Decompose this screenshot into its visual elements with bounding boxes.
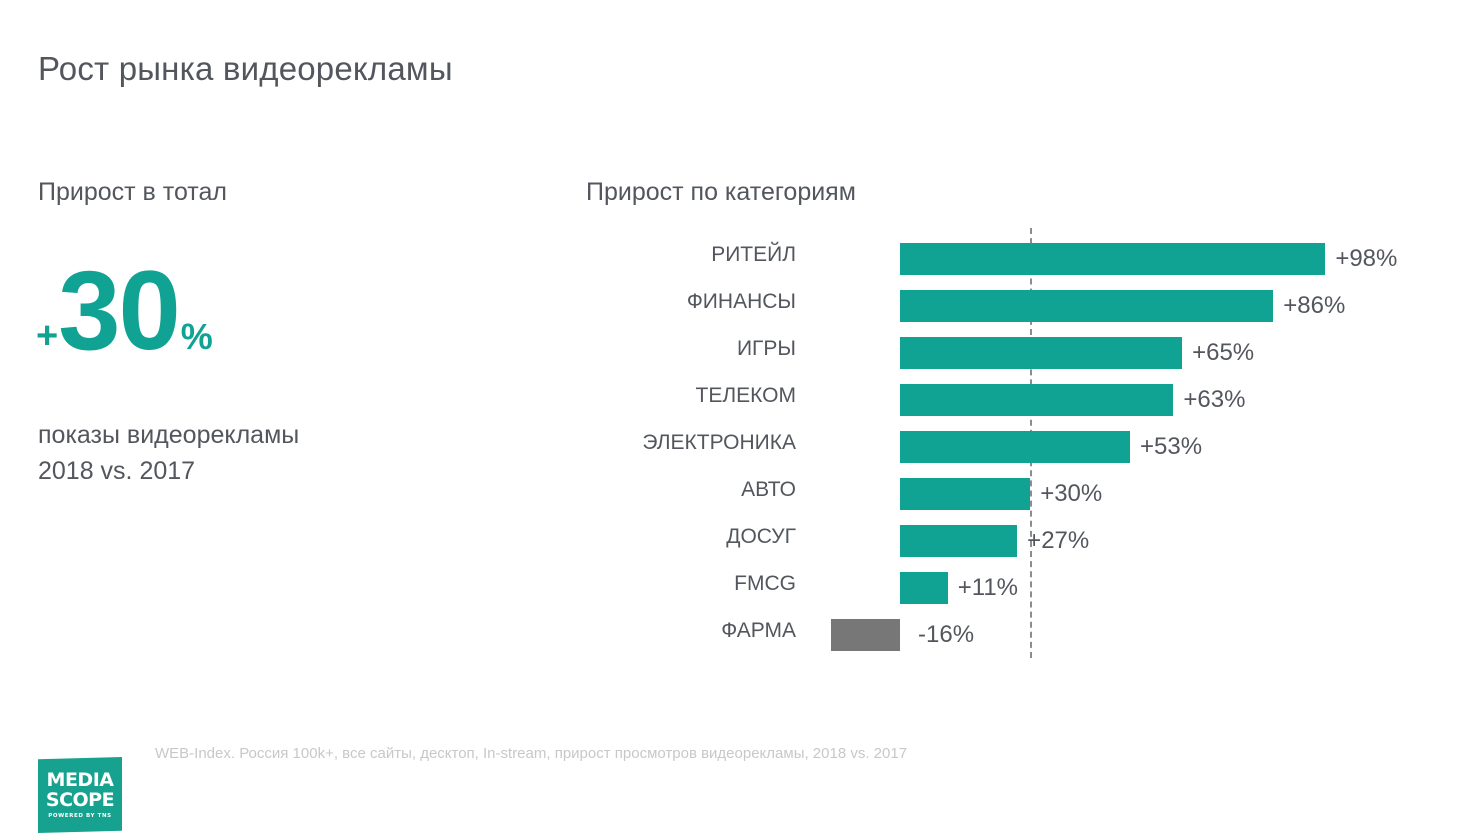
category-growth-bar-chart: РИТЕЙЛ+98%ФИНАНСЫ+86%ИГРЫ+65%ТЕЛЕКОМ+63%… [0,0,1460,840]
chart-row[interactable]: РИТЕЙЛ+98% [0,235,1460,282]
category-value-label: +30% [1040,480,1102,508]
chart-row[interactable]: ИГРЫ+65% [0,329,1460,376]
slide-root: Рост рынка видеорекламы Прирост в тотал … [0,0,1460,840]
logo-line-3: POWERED BY TNS [48,813,112,819]
category-bar[interactable] [900,478,1030,510]
chart-row[interactable]: FMCG+11% [0,564,1460,611]
category-bar[interactable] [900,431,1130,463]
logo-line-1: MEDIA [47,771,114,791]
category-bar[interactable] [900,337,1182,369]
category-value-label: +27% [1027,527,1089,555]
section-heading-categories: Прирост по категориям [586,178,856,207]
category-value-label: +86% [1283,292,1345,320]
category-label: ДОСУГ [560,525,796,549]
chart-row[interactable]: ФИНАНСЫ+86% [0,282,1460,329]
category-bar[interactable] [900,384,1173,416]
category-label: ФИНАНСЫ [560,290,796,314]
category-label: ТЕЛЕКОМ [560,384,796,408]
mediascope-logo: MEDIA SCOPE POWERED BY TNS [38,757,122,833]
section-heading-total: Прирост в тотал [38,178,227,207]
category-bar[interactable] [831,619,900,651]
category-value-label: +65% [1192,339,1254,367]
chart-row[interactable]: ЭЛЕКТРОНИКА+53% [0,423,1460,470]
category-bar[interactable] [900,572,948,604]
category-label: РИТЕЙЛ [560,243,796,267]
logo-line-2: SCOPE [46,791,114,811]
logo-text: MEDIA SCOPE POWERED BY TNS [38,757,122,833]
category-value-label: +11% [958,574,1018,602]
category-label: ИГРЫ [560,337,796,361]
category-label: АВТО [560,478,796,502]
chart-row[interactable]: АВТО+30% [0,470,1460,517]
category-value-label: -16% [918,621,974,649]
category-bar[interactable] [900,243,1325,275]
page-title: Рост рынка видеорекламы [38,50,453,88]
chart-row[interactable]: ТЕЛЕКОМ+63% [0,376,1460,423]
category-label: FMCG [560,572,796,596]
category-value-label: +98% [1335,245,1397,273]
source-footnote: WEB-Index. Россия 100k+, все сайты, деск… [155,745,907,762]
category-value-label: +53% [1140,433,1202,461]
category-bar[interactable] [900,525,1017,557]
chart-row[interactable]: ДОСУГ+27% [0,517,1460,564]
chart-row[interactable]: ФАРМА-16% [0,611,1460,658]
category-bar[interactable] [900,290,1273,322]
category-value-label: +63% [1183,386,1245,414]
category-label: ФАРМА [560,619,796,643]
category-label: ЭЛЕКТРОНИКА [560,431,796,455]
